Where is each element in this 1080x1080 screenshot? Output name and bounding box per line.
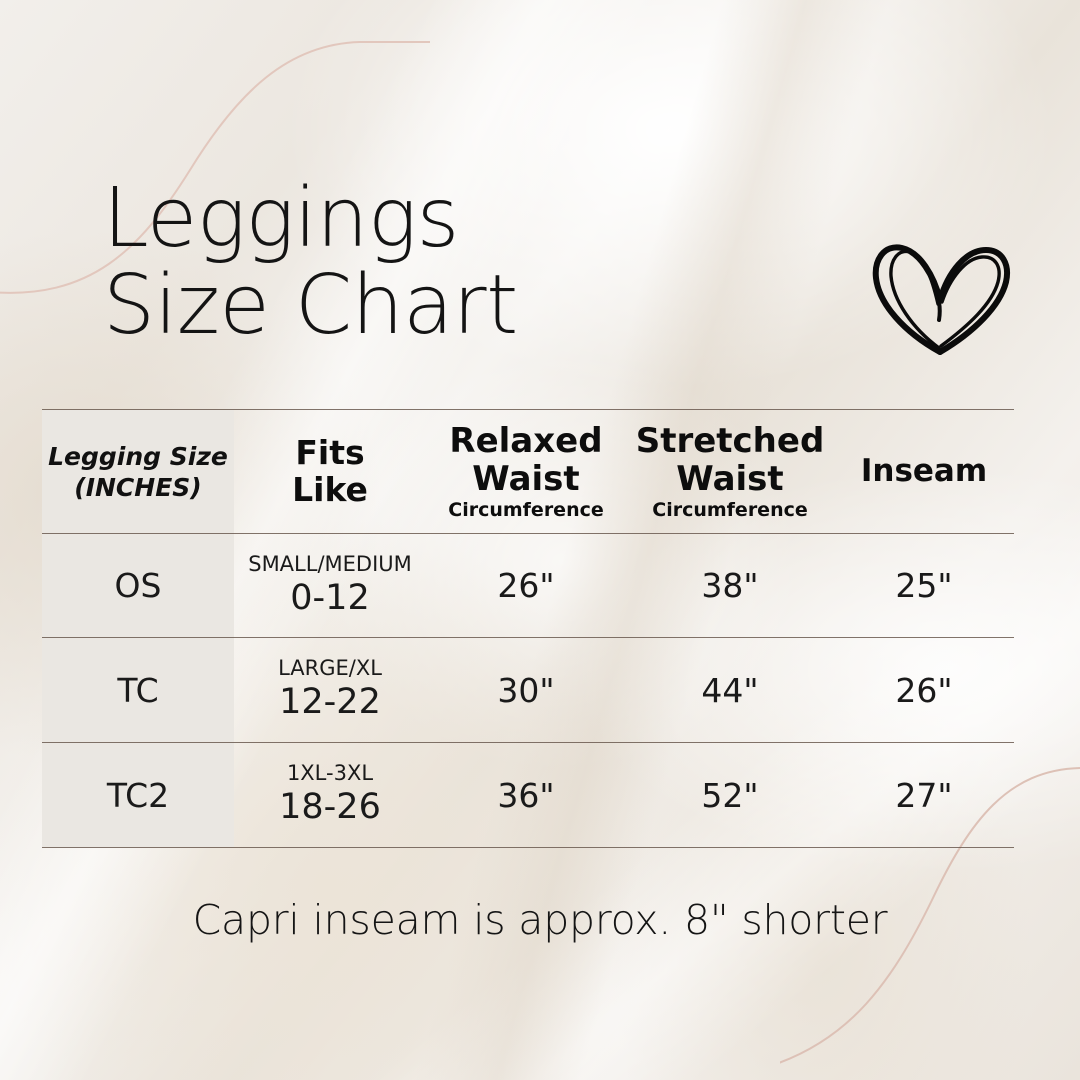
value-size: OS xyxy=(115,566,162,605)
cell-size: TC xyxy=(42,638,234,742)
header-fits-line1: Fits xyxy=(295,435,364,472)
header-cell-relaxed-waist: Relaxed Waist Circumference xyxy=(426,410,626,533)
cell-stretched-waist: 44" xyxy=(626,638,834,742)
value-fits-label: 1XL-3XL xyxy=(287,762,373,785)
header-stretched-sub: Circumference xyxy=(652,499,808,522)
cell-stretched-waist: 38" xyxy=(626,534,834,637)
table-rule-bottom xyxy=(42,847,1014,848)
header-fits-line2: Like xyxy=(292,472,368,509)
cell-stretched-waist: 52" xyxy=(626,743,834,847)
value-fits-range: 18-26 xyxy=(279,787,381,828)
cell-fits-like: 1XL-3XL 18-26 xyxy=(234,743,426,847)
value-stretched-waist: 44" xyxy=(701,671,758,710)
cell-relaxed-waist: 36" xyxy=(426,743,626,847)
header-cell-inseam: Inseam xyxy=(834,410,1014,533)
value-fits-range: 0-12 xyxy=(290,578,369,619)
header-relaxed-line2: Waist xyxy=(472,460,579,498)
header-stretched-line2: Waist xyxy=(676,460,783,498)
table-row: OS SMALL/MEDIUM 0-12 26" 38" 25" xyxy=(42,534,1014,637)
header-relaxed-sub: Circumference xyxy=(448,499,604,522)
value-inseam: 25" xyxy=(895,566,952,605)
value-fits-range: 12-22 xyxy=(279,682,381,723)
cell-inseam: 25" xyxy=(834,534,1014,637)
header-relaxed-line1: Relaxed xyxy=(449,422,602,460)
table-header-row: Legging Size (INCHES) Fits Like Relaxed … xyxy=(42,410,1014,533)
header-legging-size-sub: (INCHES) xyxy=(74,472,201,503)
cell-fits-like: LARGE/XL 12-22 xyxy=(234,638,426,742)
value-relaxed-waist: 26" xyxy=(497,566,554,605)
value-fits-label: SMALL/MEDIUM xyxy=(248,553,412,576)
value-size: TC xyxy=(117,671,158,710)
table-row: TC2 1XL-3XL 18-26 36" 52" 27" xyxy=(42,743,1014,847)
page-title: Leggings Size Chart xyxy=(103,176,518,350)
value-inseam: 26" xyxy=(895,671,952,710)
footnote-text: Capri inseam is approx. 8" shorter xyxy=(0,896,1080,944)
value-stretched-waist: 38" xyxy=(701,566,758,605)
cell-size: TC2 xyxy=(42,743,234,847)
cell-relaxed-waist: 26" xyxy=(426,534,626,637)
cell-inseam: 26" xyxy=(834,638,1014,742)
header-legging-size-main: Legging Size xyxy=(48,441,228,472)
header-inseam-main: Inseam xyxy=(861,454,987,489)
value-size: TC2 xyxy=(107,776,169,815)
value-inseam: 27" xyxy=(895,776,952,815)
header-cell-fits-like: Fits Like xyxy=(234,410,426,533)
header-cell-legging-size: Legging Size (INCHES) xyxy=(42,410,234,533)
cell-relaxed-waist: 30" xyxy=(426,638,626,742)
value-relaxed-waist: 36" xyxy=(497,776,554,815)
header-cell-stretched-waist: Stretched Waist Circumference xyxy=(626,410,834,533)
value-fits-label: LARGE/XL xyxy=(278,657,382,680)
title-line-2: Size Chart xyxy=(103,263,518,350)
heart-doodle-icon xyxy=(868,228,1018,358)
cell-fits-like: SMALL/MEDIUM 0-12 xyxy=(234,534,426,637)
table-row: TC LARGE/XL 12-22 30" 44" 26" xyxy=(42,638,1014,742)
cell-size: OS xyxy=(42,534,234,637)
value-stretched-waist: 52" xyxy=(701,776,758,815)
title-line-1: Leggings xyxy=(103,176,518,263)
cell-inseam: 27" xyxy=(834,743,1014,847)
header-stretched-line1: Stretched xyxy=(636,422,825,460)
value-relaxed-waist: 30" xyxy=(497,671,554,710)
